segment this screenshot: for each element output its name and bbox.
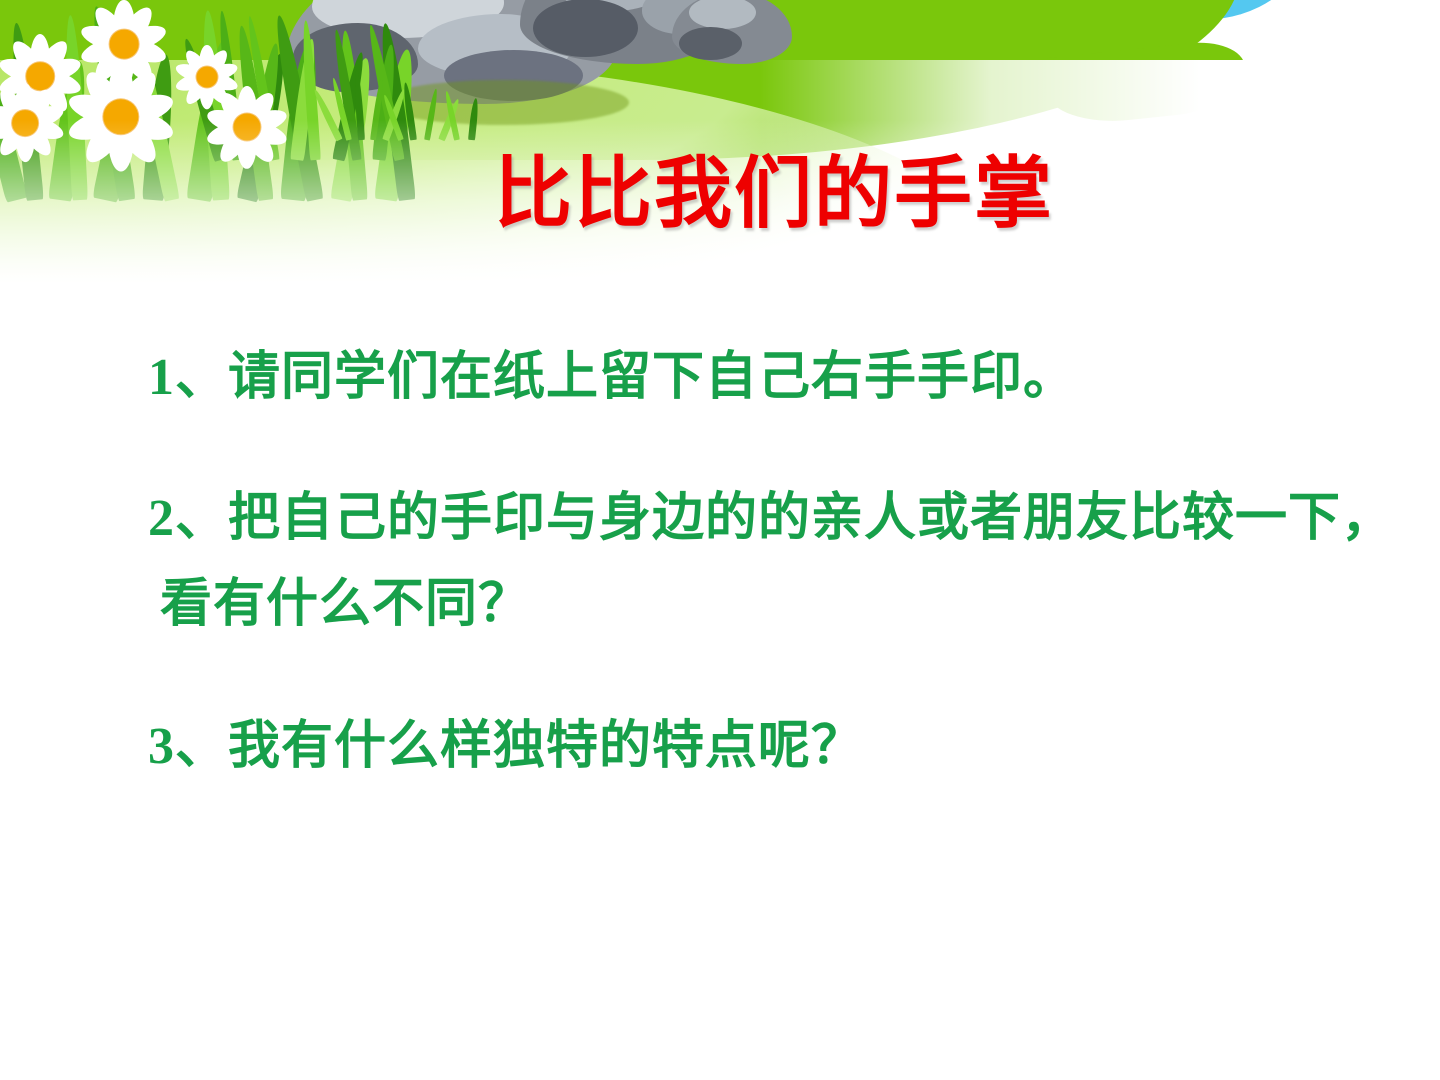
daisy-petal xyxy=(65,88,125,129)
rock-shade xyxy=(293,23,418,92)
grass-blade xyxy=(270,14,324,202)
grass-blade xyxy=(236,51,291,202)
daisy-flower-icon xyxy=(0,80,68,166)
grass-blade xyxy=(353,70,365,140)
daisy-petal xyxy=(108,117,134,171)
daisy-center xyxy=(110,30,139,59)
rock-highlight xyxy=(558,0,667,11)
daisy-petal xyxy=(0,117,33,160)
rock-body xyxy=(672,0,792,64)
grass-blade xyxy=(365,24,404,161)
rock-shade xyxy=(533,0,638,57)
daisy-petal xyxy=(205,105,250,137)
grass-blade xyxy=(199,10,230,201)
green-hill-shape xyxy=(0,0,1240,160)
daisy-petal xyxy=(0,114,28,144)
grass-blade xyxy=(300,20,321,160)
slide-body: 1、请同学们在纸上留下自己右手手印。 2、把自己的手印与身边的的亲人或者朋友比较… xyxy=(148,352,1398,773)
daisy-petal xyxy=(237,86,257,127)
daisy-petal xyxy=(108,63,134,117)
daisy-flower-icon xyxy=(76,0,172,92)
daisy-petal xyxy=(22,114,65,144)
grass-blade xyxy=(216,10,243,160)
body-line-3: 3、我有什么样独特的特点呢？ xyxy=(148,721,1398,773)
grass-blade xyxy=(331,77,352,141)
rock-medium-icon xyxy=(520,0,730,64)
rock-body xyxy=(286,0,616,104)
daisy-flower-icon xyxy=(0,30,86,122)
rock-highlight xyxy=(418,14,570,77)
grass-blade xyxy=(180,37,228,162)
daisy-petal xyxy=(7,36,48,82)
daisy-petal xyxy=(30,34,50,76)
daisy-petal xyxy=(30,76,50,118)
grass-blade xyxy=(234,25,274,202)
daisy-petal xyxy=(0,53,43,85)
grass-cluster-near-rock xyxy=(210,0,430,160)
daisy-petal xyxy=(121,20,170,54)
rock-highlight xyxy=(642,0,718,34)
rock-body xyxy=(520,0,730,64)
daisy-petal xyxy=(244,118,289,150)
daisy-petal xyxy=(244,105,289,137)
grass-blade xyxy=(337,30,368,201)
daisy-center xyxy=(26,62,54,90)
grass-blade xyxy=(374,48,419,202)
daisy-petal xyxy=(239,88,279,133)
grass-cluster-left xyxy=(0,0,430,200)
grass-blade xyxy=(370,78,385,140)
daisy-petal xyxy=(90,38,133,86)
daisy-petal xyxy=(111,109,164,168)
daisy-petal xyxy=(199,77,214,109)
grass-blade xyxy=(376,22,416,201)
daisy-petal xyxy=(17,117,56,160)
daisy-petal xyxy=(205,60,240,85)
grass-blade xyxy=(0,52,28,203)
grass-blade xyxy=(280,42,322,202)
rock-small-icon xyxy=(672,0,792,64)
grass-blade xyxy=(438,98,461,141)
grass-blade xyxy=(444,90,460,140)
grass-blade xyxy=(332,51,368,161)
daisy-petal xyxy=(182,46,213,81)
grass-blade xyxy=(250,42,283,161)
daisy-petal xyxy=(65,105,125,146)
daisy-petal xyxy=(201,72,232,107)
daisy-petal xyxy=(0,85,33,128)
daisy-petal xyxy=(32,36,73,82)
daisy-petal xyxy=(32,70,73,116)
daisy-petal xyxy=(16,83,35,123)
daisy-petal xyxy=(17,85,56,128)
grass-blade xyxy=(382,88,407,141)
grass-blade xyxy=(92,43,150,203)
daisy-petal xyxy=(199,45,214,77)
rock-shade xyxy=(444,50,583,101)
grass-blade xyxy=(330,56,377,202)
grass-blade xyxy=(290,38,319,161)
daisy-petal xyxy=(37,66,83,98)
daisy-petal xyxy=(0,102,28,132)
daisy-petal xyxy=(111,65,164,124)
daisy-center xyxy=(234,114,261,141)
daisy-petal xyxy=(7,70,48,116)
daisy-petal xyxy=(0,66,43,98)
grass-blade xyxy=(382,94,404,141)
rock-ground-shadow xyxy=(378,80,629,125)
daisy-petal xyxy=(182,72,213,107)
rock-large-icon xyxy=(286,0,616,104)
daisy-petal xyxy=(215,121,255,166)
rock-highlight xyxy=(312,0,503,38)
grass-tuft-small xyxy=(330,70,510,140)
grass-blade xyxy=(424,88,439,140)
grass-blade xyxy=(312,88,343,141)
daisy-petal xyxy=(22,102,65,132)
grass-blade xyxy=(7,22,44,201)
daisy-center xyxy=(12,110,38,136)
daisy-petal xyxy=(215,88,255,133)
grass-blade xyxy=(62,15,88,201)
rock-highlight xyxy=(689,0,756,29)
slide-title: 比比我们的手掌 xyxy=(494,152,1134,236)
daisy-petal xyxy=(79,34,128,68)
body-line-2: 2、把自己的手印与身边的的亲人或者朋友比较一下，看有什么不同？ xyxy=(148,476,1398,649)
slide-canvas: 比比我们的手掌 1、请同学们在纸上留下自己右手手印。 2、把自己的手印与身边的的… xyxy=(0,0,1440,1080)
grass-blade xyxy=(142,54,177,201)
daisy-petal xyxy=(115,2,158,50)
grass-blade xyxy=(468,98,479,141)
daisy-petal xyxy=(117,88,177,129)
daisy-petal xyxy=(205,70,240,95)
daisy-petal xyxy=(174,70,209,95)
grass-blade xyxy=(402,82,417,140)
daisy-petal xyxy=(79,20,128,54)
daisy-flower-icon xyxy=(62,58,180,176)
daisy-petal xyxy=(113,44,134,88)
daisy-petal xyxy=(117,105,177,146)
grass-blade xyxy=(245,15,280,161)
daisy-petal xyxy=(113,0,134,44)
daisy-petal xyxy=(121,34,170,68)
daisy-petal xyxy=(237,127,257,168)
rock-shade xyxy=(679,27,741,60)
daisy-flower-icon xyxy=(172,42,242,112)
daisy-center xyxy=(197,67,218,88)
grass-blade xyxy=(48,60,91,202)
grass-blade xyxy=(127,24,180,201)
grass-blade xyxy=(331,29,362,161)
daisy-petal xyxy=(201,46,232,81)
daisy-petal xyxy=(79,65,132,124)
daisy-petal xyxy=(205,118,250,150)
grass-blade xyxy=(372,44,398,161)
daisy-petal xyxy=(16,123,35,163)
daisy-petal xyxy=(115,38,158,86)
daisy-petal xyxy=(90,2,133,50)
grass-blade xyxy=(186,38,237,202)
grass-blade xyxy=(87,5,135,201)
daisy-petal xyxy=(174,60,209,85)
daisy-flower-icon xyxy=(202,82,292,172)
body-line-1: 1、请同学们在纸上留下自己右手手印。 xyxy=(148,352,1398,404)
daisy-center xyxy=(103,99,138,134)
daisy-petal xyxy=(37,53,83,85)
daisy-petal xyxy=(79,109,132,168)
daisy-petal xyxy=(239,121,279,166)
sky-blob-shape xyxy=(1096,0,1306,20)
